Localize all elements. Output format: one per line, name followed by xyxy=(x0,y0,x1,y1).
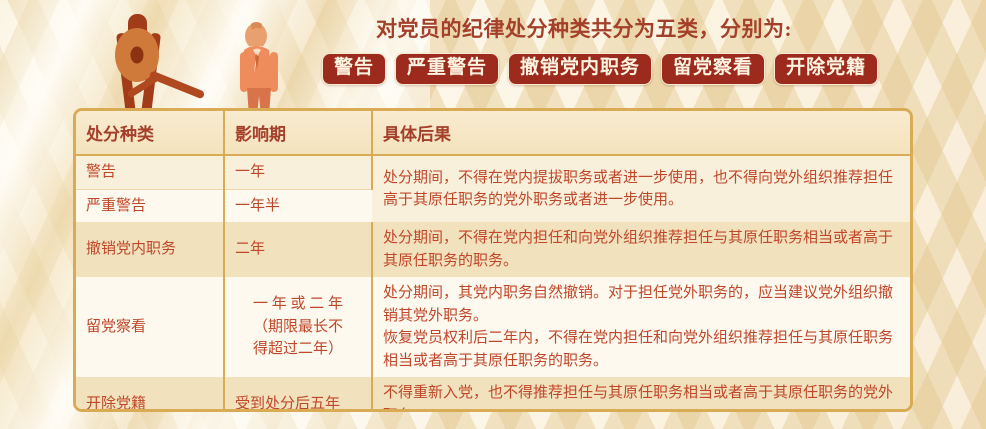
table-row: 撤销党内职务 二年 处分期间，不得在党内担任和向党外组织推荐担任与其原任职务相当… xyxy=(76,222,910,277)
punishment-table-grid: 处分种类 影响期 具体后果 警告 一年 处分期间，不得在党内提拔职务或者进一步使… xyxy=(76,111,910,412)
table-header: 处分种类 影响期 具体后果 xyxy=(76,111,910,155)
cell-kind-expulsion: 开除党籍 xyxy=(76,377,224,412)
person-in-suit-icon xyxy=(240,22,278,116)
cell-effect-revoke-post: 处分期间，不得在党内担任和向党外组织推荐担任与其原任职务相当或者高于其原任职务的… xyxy=(372,222,910,277)
table-row: 开除党籍 受到处分后五年 不得重新入党，也不得推荐担任与其原任职务相当或者高于其… xyxy=(76,377,910,412)
page-title: 对党员的纪律处分种类共分为五类，分别为: xyxy=(376,13,976,43)
cell-period-revoke-post: 二年 xyxy=(224,222,372,277)
period-line-2: （期限最长不 xyxy=(235,316,361,339)
table-row: 警告 一年 处分期间，不得在党内提拔职务或者进一步使用，也不得向党外组织推荐担任… xyxy=(76,155,910,189)
effect-paragraph-1: 处分期间，其党内职务自然撤销。对于担任党外职务的，应当建议党外组织撤销其党外职务… xyxy=(383,282,900,327)
punishment-badge-row: 警告 严重警告 撤销党内职务 留党察看 开除党籍 xyxy=(322,53,878,85)
cell-effect-expulsion: 不得重新入党，也不得推荐担任与其原任职务相当或者高于其原任职务的党外职务。 xyxy=(372,377,910,412)
badge-warning[interactable]: 警告 xyxy=(322,53,386,85)
cell-kind-probation: 留党察看 xyxy=(76,277,224,377)
cell-kind-serious-warning: 严重警告 xyxy=(76,189,224,222)
illustration-svg xyxy=(0,0,330,120)
cell-effect-probation: 处分期间，其党内职务自然撤销。对于担任党外职务的，应当建议党外组织撤销其党外职务… xyxy=(372,277,910,377)
effect-paragraph-2: 恢复党员权利后二年内，不得在党内担任和向党外组织推荐担任与其原任职务相当或者高于… xyxy=(383,327,900,372)
illustration-group xyxy=(0,0,330,120)
column-header-period: 影响期 xyxy=(224,111,372,155)
cell-effect-warning: 处分期间，不得在党内提拔职务或者进一步使用，也不得向党外组织推荐担任高于其原任职… xyxy=(372,155,910,222)
punishment-table: 处分种类 影响期 具体后果 警告 一年 处分期间，不得在党内提拔职务或者进一步使… xyxy=(73,108,913,412)
badge-probation[interactable]: 留党察看 xyxy=(661,53,765,85)
badge-expulsion[interactable]: 开除党籍 xyxy=(774,53,878,85)
infographic-canvas: 对党员的纪律处分种类共分为五类，分别为: 警告 严重警告 撤销党内职务 留党察看… xyxy=(0,0,986,429)
table-body: 警告 一年 处分期间，不得在党内提拔职务或者进一步使用，也不得向党外组织推荐担任… xyxy=(76,155,910,412)
period-line-1: 一 年 或 二 年 xyxy=(235,293,361,316)
gavel-icon xyxy=(95,14,205,119)
cell-period-expulsion: 受到处分后五年 xyxy=(224,377,372,412)
cell-kind-revoke-post: 撤销党内职务 xyxy=(76,222,224,277)
period-line-3: 得超过二年） xyxy=(235,338,361,361)
cell-period-serious-warning: 一年半 xyxy=(224,189,372,222)
column-header-kind: 处分种类 xyxy=(76,111,224,155)
table-header-row: 处分种类 影响期 具体后果 xyxy=(76,111,910,155)
badge-revoke-post[interactable]: 撤销党内职务 xyxy=(508,53,652,85)
column-header-effect: 具体后果 xyxy=(372,111,910,155)
cell-kind-warning: 警告 xyxy=(76,155,224,189)
table-row: 留党察看 一 年 或 二 年 （期限最长不 得超过二年） 处分期间，其党内职务自… xyxy=(76,277,910,377)
cell-period-probation: 一 年 或 二 年 （期限最长不 得超过二年） xyxy=(224,277,372,377)
badge-serious-warning[interactable]: 严重警告 xyxy=(395,53,499,85)
cell-period-warning: 一年 xyxy=(224,155,372,189)
